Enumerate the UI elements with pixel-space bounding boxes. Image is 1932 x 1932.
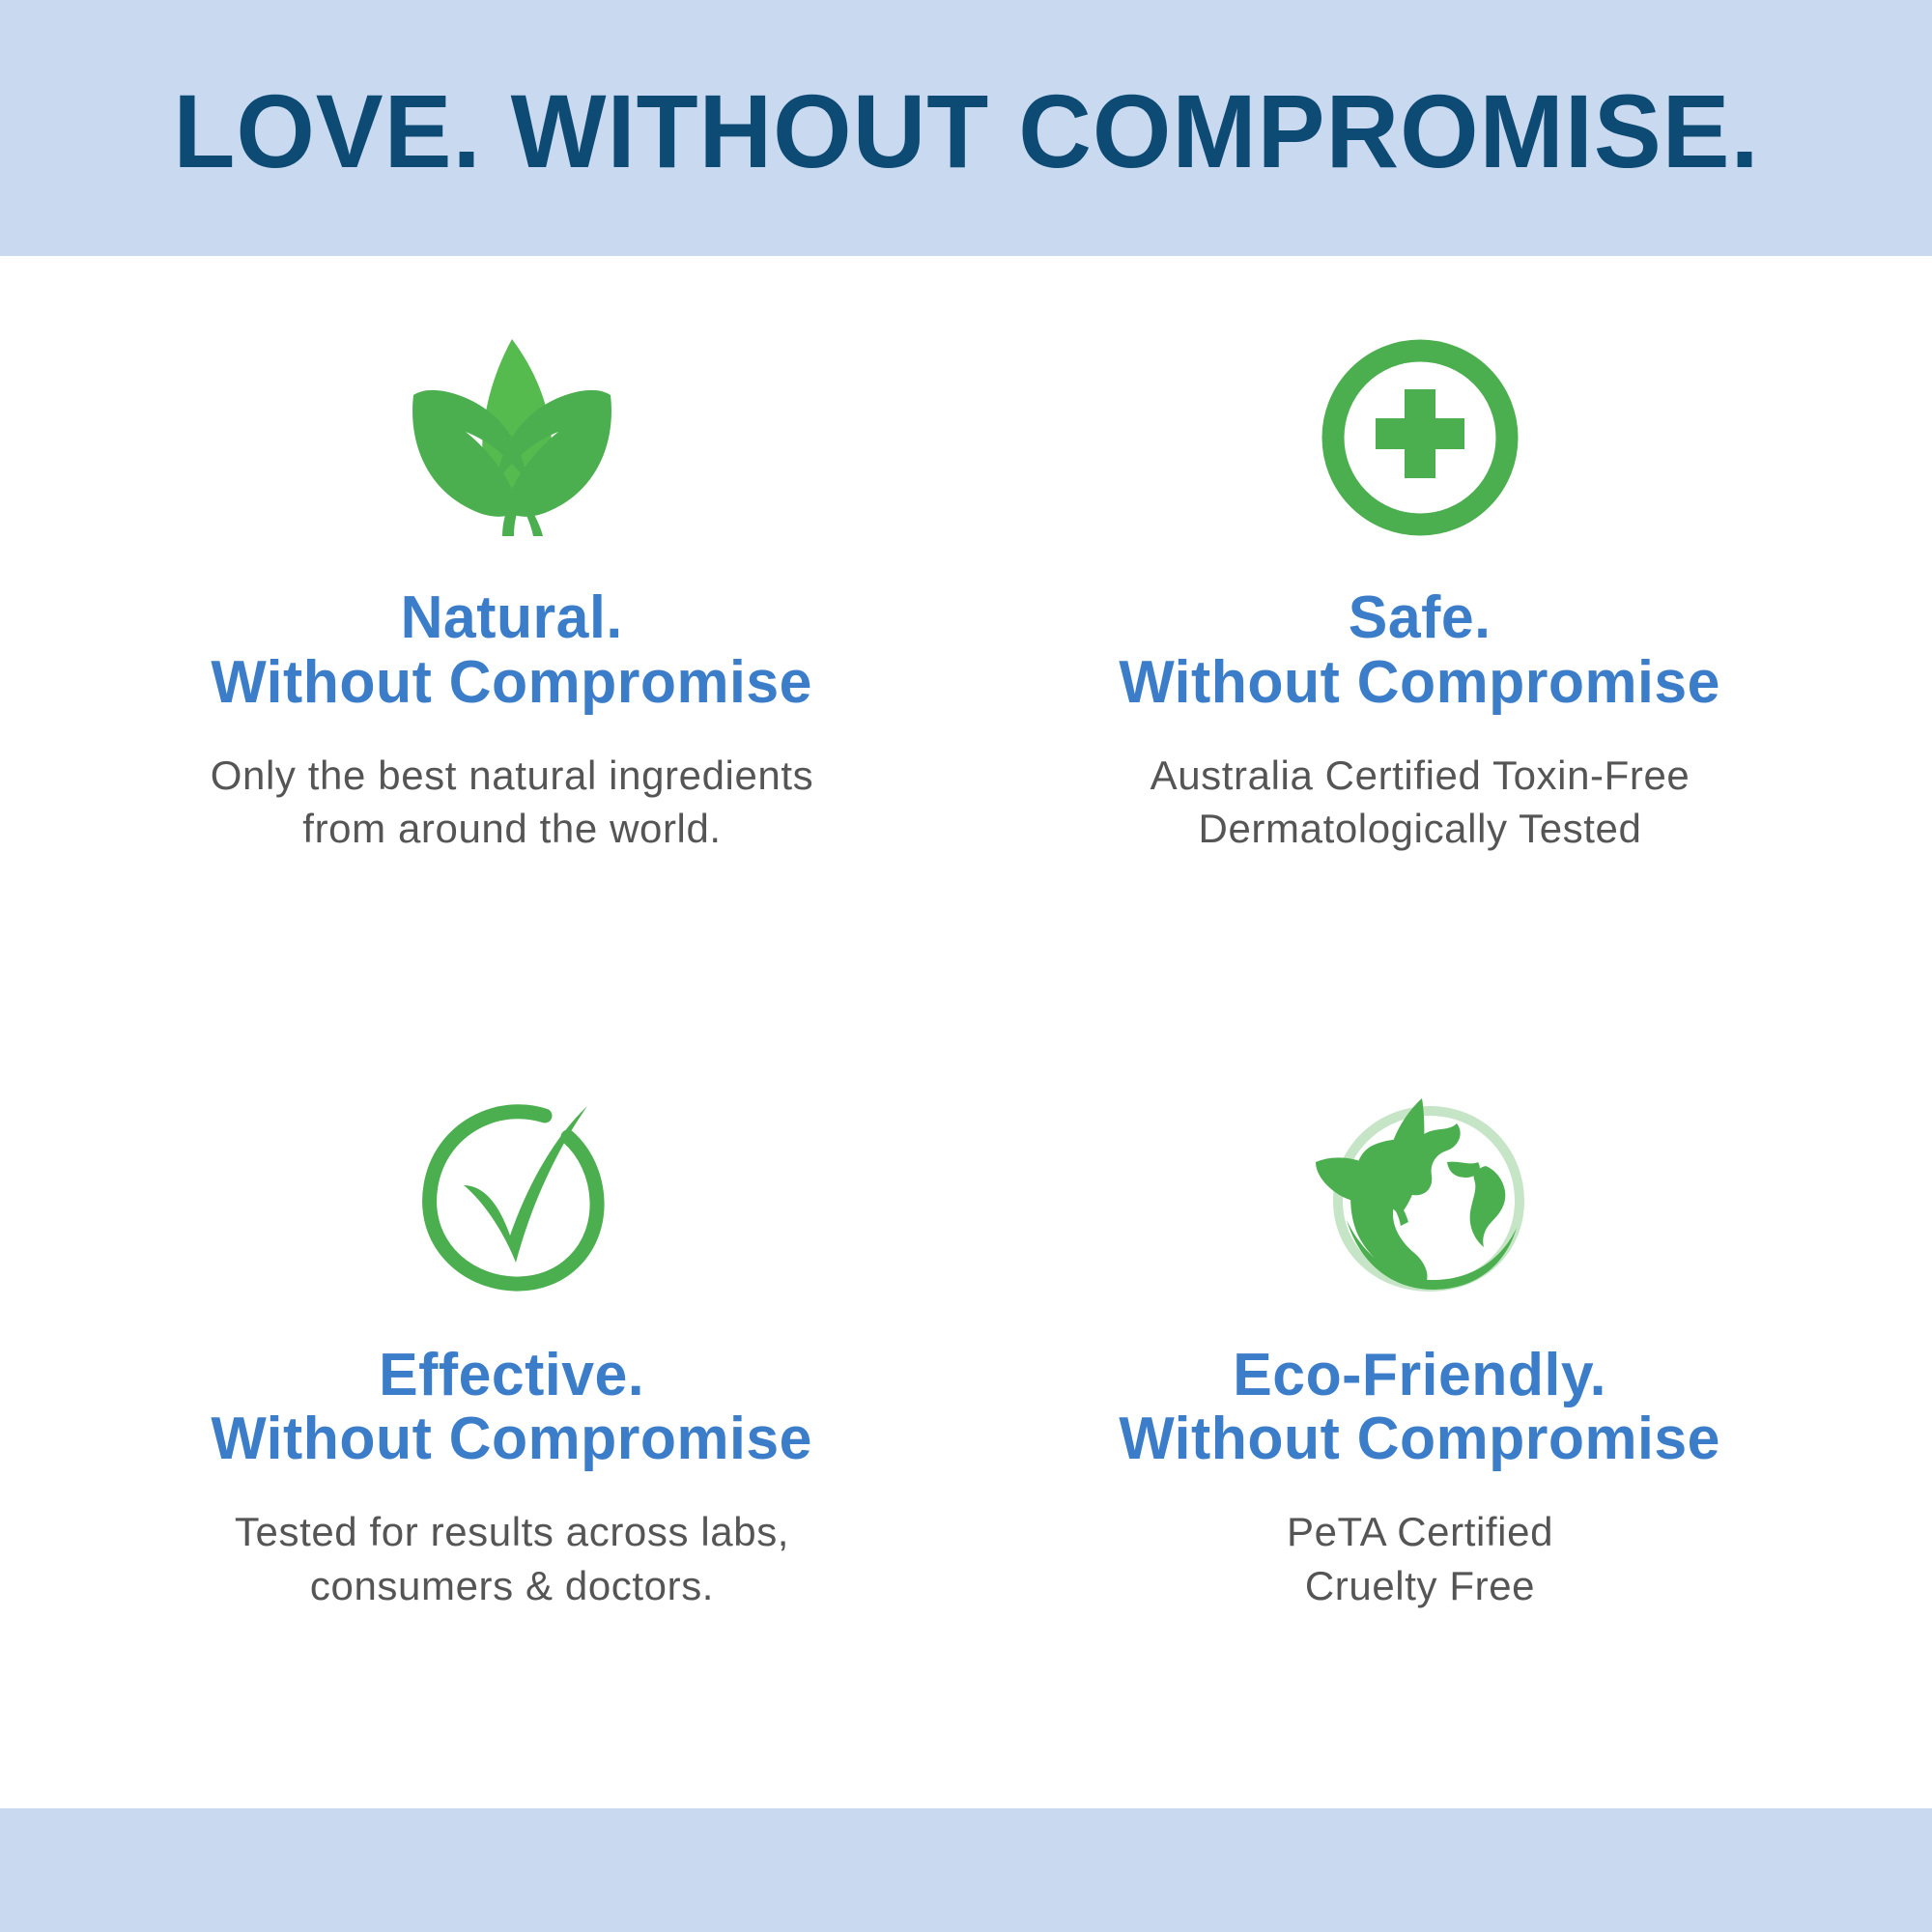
feature-title-line-1: Effective. — [212, 1344, 813, 1408]
feature-description-line-2: Cruelty Free — [1287, 1559, 1553, 1612]
feature-card-safe: Safe. Without Compromise Australia Certi… — [966, 295, 1874, 1052]
feature-title-line-1: Safe. — [1120, 586, 1721, 651]
feature-description-line-2: from around the world. — [211, 802, 814, 855]
feature-title: Eco-Friendly. Without Compromise — [1120, 1344, 1721, 1473]
feature-description: Tested for results across labs, consumer… — [235, 1505, 789, 1612]
feature-card-natural: Natural. Without Compromise Only the bes… — [58, 295, 966, 1052]
feature-title-line-1: Natural. — [212, 586, 813, 651]
feature-description: PeTA Certified Cruelty Free — [1287, 1505, 1553, 1612]
feature-description-line-1: Only the best natural ingredients — [211, 749, 814, 802]
feature-description-line-2: Dermatologically Tested — [1151, 802, 1690, 855]
feature-description: Australia Certified Toxin-Free Dermatolo… — [1151, 749, 1690, 856]
feature-card-effective: Effective. Without Compromise Tested for… — [58, 1052, 966, 1809]
feature-title-line-2: Without Compromise — [212, 1407, 813, 1472]
feature-title-line-1: Eco-Friendly. — [1120, 1344, 1721, 1408]
bottom-banner — [0, 1808, 1932, 1932]
feature-card-eco-friendly: Eco-Friendly. Without Compromise PeTA Ce… — [966, 1052, 1874, 1809]
feature-title-line-2: Without Compromise — [212, 651, 813, 716]
feature-grid: Natural. Without Compromise Only the bes… — [0, 256, 1932, 1808]
eco-globe-leaf-icon — [1304, 1089, 1536, 1301]
infographic-poster: LOVE. WITHOUT COMPROMISE. — [0, 0, 1932, 1932]
page-title: LOVE. WITHOUT COMPROMISE. — [173, 73, 1759, 184]
feature-description-line-1: Tested for results across labs, — [235, 1505, 789, 1558]
feature-description-line-1: Australia Certified Toxin-Free — [1151, 749, 1690, 802]
top-banner: LOVE. WITHOUT COMPROMISE. — [0, 0, 1932, 256]
feature-title: Effective. Without Compromise — [212, 1344, 813, 1473]
leaves-icon — [396, 331, 628, 544]
feature-description-line-2: consumers & doctors. — [235, 1559, 789, 1612]
feature-title: Natural. Without Compromise — [212, 586, 813, 716]
feature-title-line-2: Without Compromise — [1120, 651, 1721, 716]
check-circle-icon — [408, 1089, 616, 1301]
feature-title-line-2: Without Compromise — [1120, 1407, 1721, 1472]
feature-title: Safe. Without Compromise — [1120, 586, 1721, 716]
feature-description-line-1: PeTA Certified — [1287, 1505, 1553, 1558]
medical-cross-circle-icon — [1318, 331, 1522, 544]
feature-description: Only the best natural ingredients from a… — [211, 749, 814, 856]
